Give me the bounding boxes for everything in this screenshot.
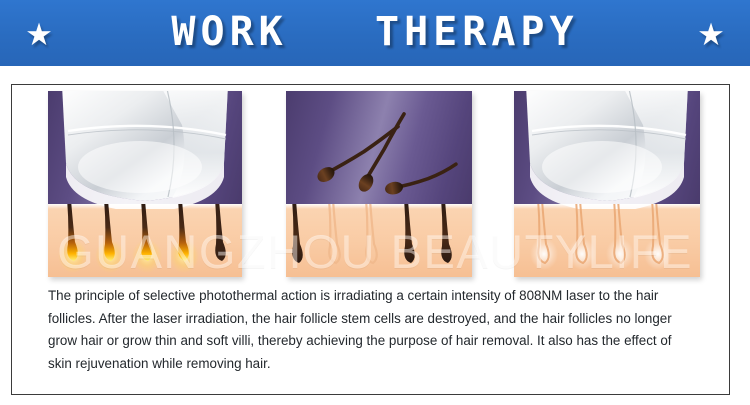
laser-handpiece-icon: [48, 91, 242, 209]
description-paragraph: The principle of selective photothermal …: [48, 285, 696, 375]
page-title: WORK THERAPY: [0, 0, 750, 66]
panel-before: [48, 91, 242, 277]
follicles-heated: [48, 204, 242, 277]
star-right-icon: ★: [696, 20, 726, 50]
work-therapy-infographic: ★ WORK THERAPY ★: [0, 0, 750, 405]
laser-handpiece-icon: [514, 91, 700, 209]
content-frame: The principle of selective photothermal …: [11, 84, 730, 395]
follicles-empty: [514, 204, 700, 277]
follicles-mixed: [286, 204, 472, 277]
panel-during: [286, 91, 472, 277]
detached-hairs-icon: [286, 91, 472, 209]
illustration-strip: [12, 85, 729, 281]
header-banner: ★ WORK THERAPY ★: [0, 0, 750, 66]
panel-after: [514, 91, 700, 277]
